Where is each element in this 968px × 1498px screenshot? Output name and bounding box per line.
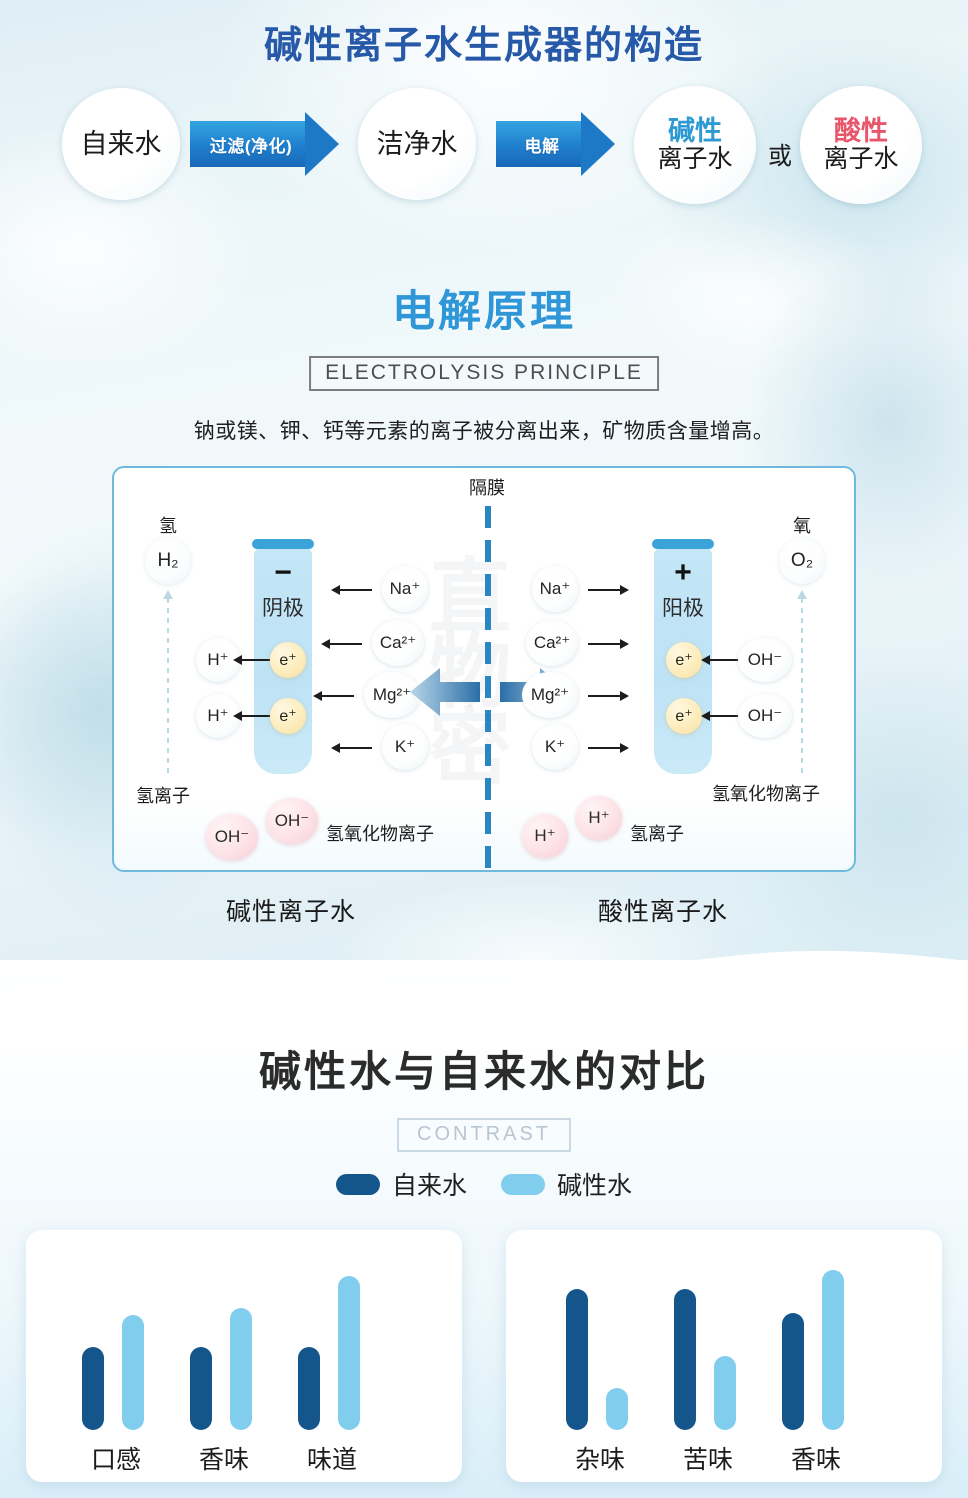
bar-tap-water [566,1289,588,1430]
bar-chart-card-right: 杂味苦味香味 [506,1230,942,1482]
bar-tap-water [298,1347,320,1430]
flow-node-acidic-water-label-top: 酸性 [834,117,888,146]
flow-arrow-filtration: 过滤(净化) [190,117,339,171]
flow-node-acidic-water-label-bottom: 离子水 [823,146,898,173]
left-reaction-arrow-2-icon [242,715,272,717]
flow-arrow-filtration-label: 过滤(净化) [190,121,306,167]
left-gas-symbol: H₂ [145,538,191,584]
flow-node-acidic-water: 酸性 离子水 [800,86,922,204]
right-hydrogen-ion-label: 氢离子 [630,820,684,846]
bar-tap-water [674,1289,696,1430]
left-bubble-oh-1: OH⁻ [206,814,258,860]
wave-divider [0,930,968,1050]
right-arrow-ca-icon [588,643,620,645]
electrolysis-description: 钠或镁、钾、钙等元素的离子被分离出来，矿物质含量增高。 [0,415,968,445]
watermark-line-1: 直 [429,560,515,635]
right-gas-name: 氧 [782,512,822,538]
bar-group-label: 香味 [766,1440,866,1476]
cathode-label: 阴极 [254,592,312,622]
bar-alkaline-water [338,1276,360,1430]
bar-group-label: 味道 [282,1440,382,1476]
bar-group-label: 香味 [174,1440,274,1476]
membrane-label: 隔膜 [447,474,527,500]
flow-arrow-electrolysis-label: 电解 [496,121,582,167]
anode-sign-icon: + [654,562,712,583]
anode-cap-icon [652,539,714,549]
left-hydrogen-ion-label: 氢离子 [136,782,190,808]
arrow-head-icon [581,112,615,176]
bar-tap-water [190,1347,212,1430]
bar-group-label: 苦味 [658,1440,758,1476]
chart-legend: 自来水 碱性水 [0,1166,968,1202]
contrast-section-title: 碱性水与自来水的对比 [0,1038,968,1099]
left-hydroxide-label: 氢氧化物离子 [326,820,434,846]
arrow-head-icon [305,112,339,176]
left-gas-name: 氢 [148,512,188,538]
flow-node-tap-water-label: 自来水 [81,130,162,159]
bar-tap-water [782,1313,804,1430]
diagram-caption-acidic: 酸性离子水 [598,892,728,928]
flow-conjunction-label: 或 [758,136,802,171]
flow-node-alkaline-water-label-bottom: 离子水 [657,146,732,173]
electrolysis-diagram: 直 物 密 隔膜 氢 H₂ − 阴极 Na⁺ Ca²⁺ Mg²⁺ K⁺ H⁺ e… [112,466,856,872]
legend-item-tap-water: 自来水 [336,1166,467,1202]
right-ion-na: Na⁺ [532,566,578,612]
right-arrow-k-icon [588,747,620,749]
flow-node-tap-water: 自来水 [62,88,180,200]
contrast-section-subtitle: CONTRAST [397,1118,571,1152]
left-reaction-electron-1: e⁺ [270,642,306,678]
legend-item-alkaline-water: 碱性水 [501,1166,632,1202]
right-reaction-electron-1: e⁺ [666,642,702,678]
right-arrow-na-icon [588,589,620,591]
right-bubble-h-1: H⁺ [522,814,568,858]
right-ion-mg: Mg²⁺ [522,672,578,718]
left-arrow-ca-icon [330,643,362,645]
legend-swatch-tap-water [336,1174,380,1195]
right-bubble-h-2: H⁺ [576,796,622,840]
right-hydroxide-label: 氢氧化物离子 [712,780,820,806]
right-ion-ca: Ca²⁺ [526,620,578,666]
left-ion-na: Na⁺ [382,566,428,612]
left-reaction-arrow-1-icon [242,659,272,661]
right-reaction-arrow-2-icon [710,715,740,717]
bar-alkaline-water [822,1270,844,1430]
right-reaction-arrow-1-icon [710,659,740,661]
page-title: 碱性离子水生成器的构造 [0,14,968,69]
left-ion-ca: Ca²⁺ [372,620,424,666]
flow-arrow-electrolysis: 电解 [496,117,615,171]
bar-group-label: 杂味 [550,1440,650,1476]
electrolysis-section-title: 电解原理 [0,277,968,339]
right-reaction-electron-2: e⁺ [666,698,702,734]
left-gas-flow-arrow-icon [167,598,169,778]
bar-alkaline-water [714,1356,736,1430]
bar-group-label: 口感 [66,1440,166,1476]
right-gas-symbol: O₂ [779,538,825,584]
left-arrow-na-icon [340,589,372,591]
diagram-caption-alkaline: 碱性离子水 [226,892,356,928]
legend-swatch-alkaline-water [501,1174,545,1195]
right-gas-flow-arrow-icon [801,598,803,778]
bar-chart-right: 杂味苦味香味 [506,1230,942,1482]
left-ion-k: K⁺ [382,724,428,770]
bar-chart-left: 口感香味味道 [26,1230,462,1482]
flow-node-alkaline-water-label-top: 碱性 [668,117,722,146]
right-reaction-ion-oh-2: OH⁻ [738,694,792,738]
electrolysis-section-subtitle: ELECTROLYSIS PRINCIPLE [309,356,659,391]
anode-label: 阳极 [654,592,712,622]
left-arrow-mg-icon [322,695,354,697]
bar-chart-card-left: 口感香味味道 [26,1230,462,1482]
flow-node-clean-water: 洁净水 [358,88,476,200]
left-bubble-oh-2: OH⁻ [266,798,318,844]
cathode-cap-icon [252,539,314,549]
watermark-line-3: 密 [429,711,515,786]
right-arrow-mg-icon [588,695,620,697]
flow-node-alkaline-water: 碱性 离子水 [634,86,756,204]
bar-alkaline-water [122,1315,144,1430]
legend-label-alkaline-water: 碱性水 [557,1166,632,1202]
flow-node-clean-water-label: 洁净水 [377,130,458,159]
right-ion-k: K⁺ [532,724,578,770]
bar-alkaline-water [230,1308,252,1430]
right-reaction-ion-oh-1: OH⁻ [738,638,792,682]
process-flow-diagram: 自来水 过滤(净化) 洁净水 电解 碱性 离子水 或 酸性 离子水 [0,86,968,206]
left-arrow-k-icon [340,747,372,749]
left-reaction-electron-2: e⁺ [270,698,306,734]
legend-label-tap-water: 自来水 [392,1166,467,1202]
infographic-page: 碱性离子水生成器的构造 自来水 过滤(净化) 洁净水 电解 碱性 离子水 或 酸… [0,0,968,1498]
bar-tap-water [82,1347,104,1430]
cathode-sign-icon: − [254,562,312,583]
bar-alkaline-water [606,1388,628,1430]
